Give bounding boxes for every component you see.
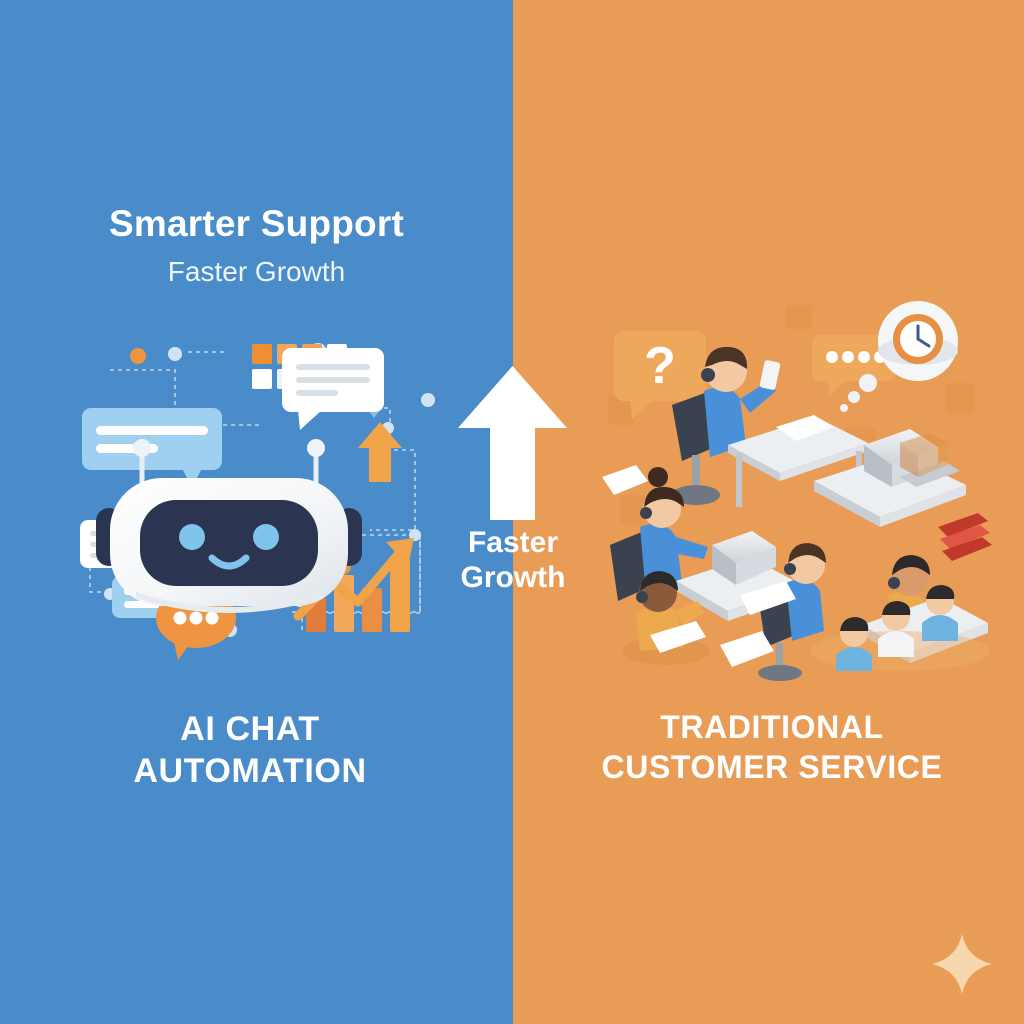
left-panel-caption: AI CHAT AUTOMATION [0,708,500,792]
sparkle-icon [930,932,994,996]
smartphone-icon [759,360,780,391]
up-arrow-icon [455,362,570,522]
right-panel-caption: TRADITIONAL CUSTOMER SERVICE [520,708,1024,787]
comparison-infographic: Smarter Support Faster Growth [0,0,1024,1024]
page-title: Smarter Support [0,205,513,242]
ai-chatbot-illustration [70,330,440,660]
right-caption-line-2: CUSTOMER SERVICE [520,748,1024,788]
book-stack-icon [938,513,992,561]
headset-icon [636,591,648,603]
arrow-label-line-2: Growth [393,560,633,595]
chat-bubble-blue-icon [82,408,222,488]
headline-block: Smarter Support Faster Growth [0,205,513,286]
arrow-label-line-1: Faster [393,525,633,560]
headset-icon [640,507,652,519]
left-caption-line-2: AUTOMATION [0,750,500,792]
page-subtitle: Faster Growth [0,258,513,286]
center-arrow-label: Faster Growth [393,525,633,596]
headset-icon [888,577,900,589]
left-caption-line-1: AI CHAT [0,708,500,750]
up-arrow-orange-icon [358,422,402,482]
right-caption-line-1: TRADITIONAL [520,708,1024,748]
question-mark-glyph: ? [644,337,676,395]
headset-icon [784,563,796,575]
call-center-isometric-illustration: ? [600,295,990,675]
chat-bubble-white-icon [282,348,384,430]
headset-icon [701,368,715,382]
